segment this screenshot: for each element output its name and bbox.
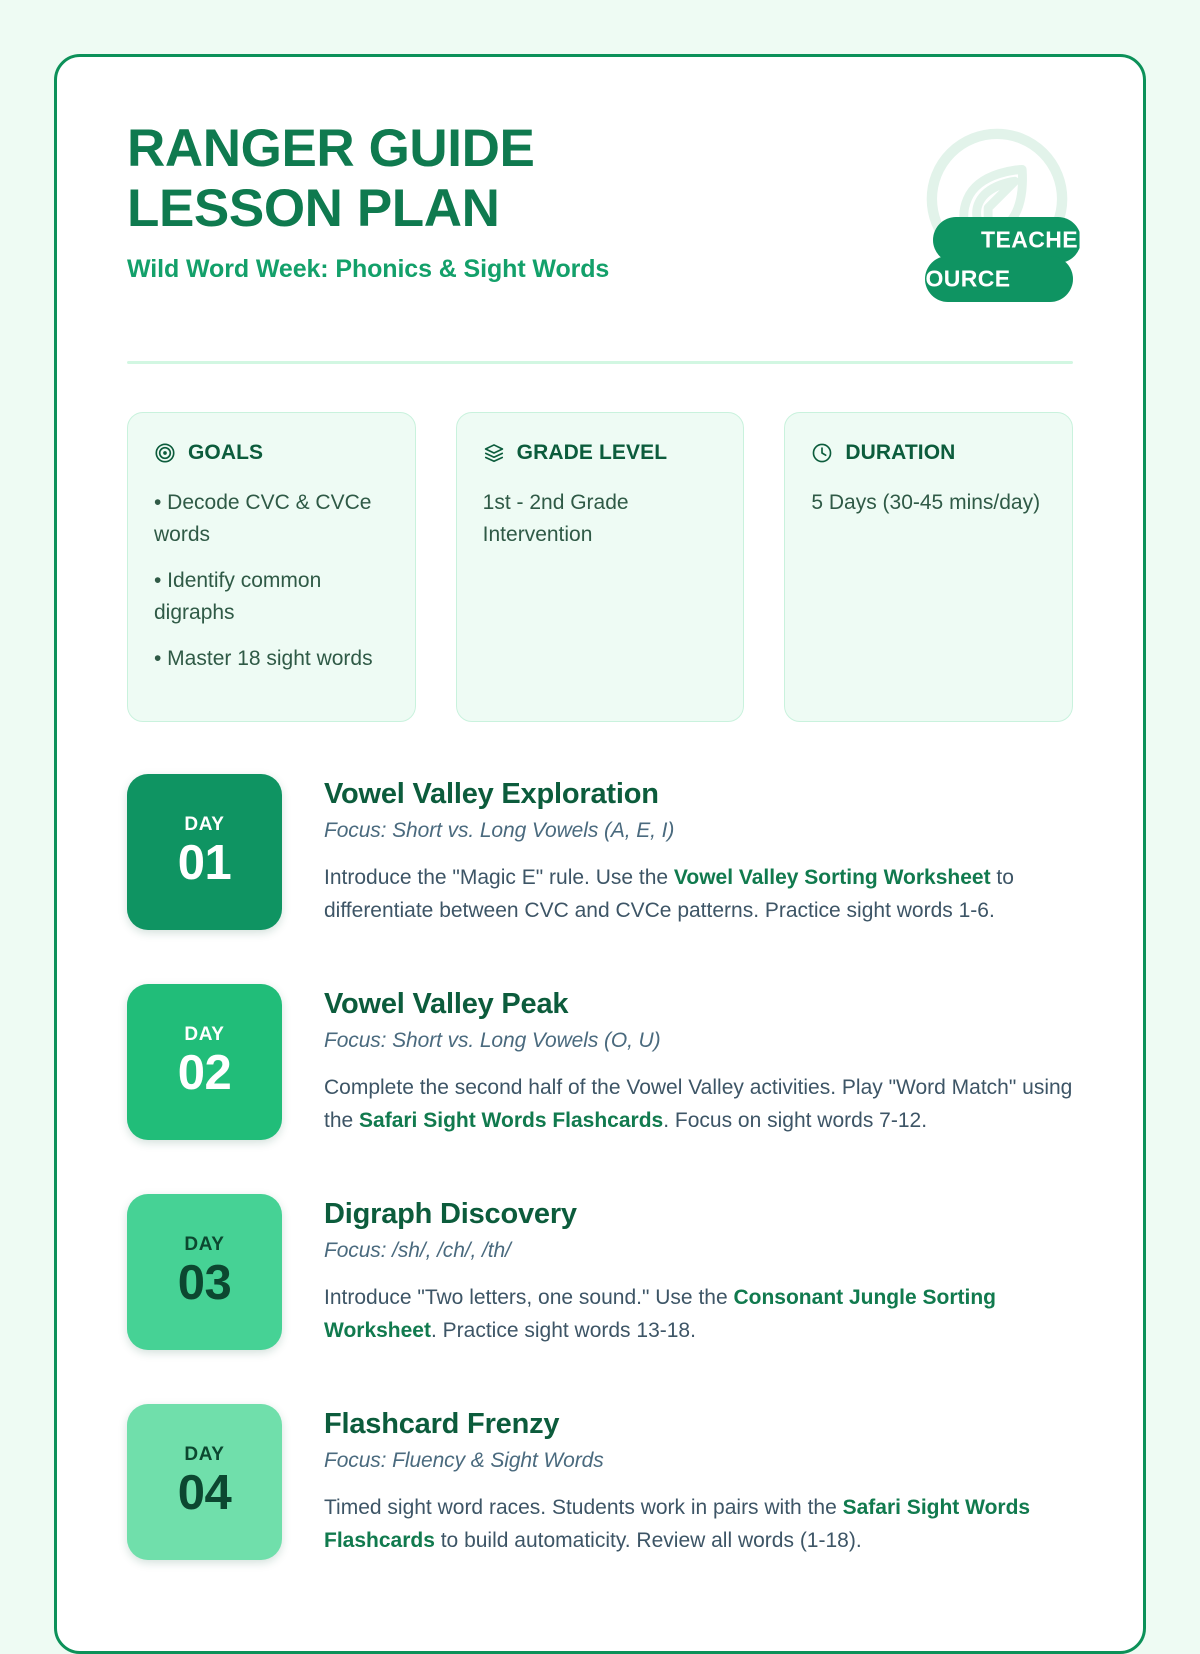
info-card-goals: GOALS • Decode CVC & CVCe words • Identi… [127,412,416,722]
day-badge-number: 04 [178,1468,232,1519]
day-row: DAY01Vowel Valley ExplorationFocus: Shor… [127,774,1073,930]
info-card-duration-header: DURATION [811,441,1046,465]
day-description: Complete the second half of the Vowel Va… [324,1071,1073,1137]
day-title: Vowel Valley Peak [324,988,1073,1021]
day-description-text: . Practice sight words 13-18. [431,1319,696,1342]
day-focus: Focus: Short vs. Long Vowels (O, U) [324,1029,1073,1053]
day-focus: Focus: /sh/, /ch/, /th/ [324,1239,1073,1263]
page-title: RANGER GUIDE LESSON PLAN [127,119,767,239]
clock-icon [811,442,833,464]
day-badge-label: DAY [184,1234,224,1256]
info-card-goals-title: GOALS [188,441,263,465]
info-card-goals-header: GOALS [154,441,389,465]
day-badge-02: DAY02 [127,984,282,1140]
info-card-goals-body: • Decode CVC & CVCe words • Identify com… [154,487,389,675]
badge-label-teacher: TEACHER [981,227,1095,254]
day-badge-number: 01 [178,838,232,889]
day-description-text: Timed sight word races. Students work in… [324,1496,843,1519]
day-badge-label: DAY [184,1444,224,1466]
info-card-duration-body: 5 Days (30-45 mins/day) [811,487,1046,519]
day-badge-label: DAY [184,814,224,836]
resource-link[interactable]: Safari Sight Words Flashcards [359,1109,663,1132]
day-content: Flashcard FrenzyFocus: Fluency & Sight W… [324,1404,1073,1557]
resource-link[interactable]: Vowel Valley Sorting Worksheet [674,866,991,889]
day-badge-01: DAY01 [127,774,282,930]
day-description-text: Introduce the "Magic E" rule. Use the [324,866,674,889]
day-description-text: Introduce "Two letters, one sound." Use … [324,1286,733,1309]
day-focus: Focus: Short vs. Long Vowels (A, E, I) [324,819,1073,843]
info-card-grade-level-body: 1st - 2nd Grade Intervention [483,487,718,551]
day-title: Vowel Valley Exploration [324,778,1073,811]
day-row: DAY02Vowel Valley PeakFocus: Short vs. L… [127,984,1073,1140]
teacher-resource-badge: TEACHER RESOURCE [879,125,1079,305]
info-card-duration-title: DURATION [845,441,955,465]
goal-bullet: • Master 18 sight words [154,643,389,675]
day-row: DAY04Flashcard FrenzyFocus: Fluency & Si… [127,1404,1073,1560]
goal-bullet: • Identify common digraphs [154,565,389,629]
info-cards: GOALS • Decode CVC & CVCe words • Identi… [127,412,1073,722]
day-focus: Focus: Fluency & Sight Words [324,1449,1073,1473]
day-badge-number: 03 [178,1258,232,1309]
day-description: Introduce the "Magic E" rule. Use the Vo… [324,861,1073,927]
day-badge-03: DAY03 [127,1194,282,1350]
lesson-plan-page: RANGER GUIDE LESSON PLAN Wild Word Week:… [54,54,1146,1654]
day-content: Vowel Valley PeakFocus: Short vs. Long V… [324,984,1073,1137]
day-description: Timed sight word races. Students work in… [324,1491,1073,1557]
info-card-grade-level: GRADE LEVEL 1st - 2nd Grade Intervention [456,412,745,722]
day-list: DAY01Vowel Valley ExplorationFocus: Shor… [127,774,1073,1560]
page-title-line-2: LESSON PLAN [127,179,767,239]
info-card-duration: DURATION 5 Days (30-45 mins/day) [784,412,1073,722]
day-description-text: to build automaticity. Review all words … [435,1529,862,1552]
page-title-line-1: RANGER GUIDE [127,119,767,179]
day-content: Digraph DiscoveryFocus: /sh/, /ch/, /th/… [324,1194,1073,1347]
layers-icon [483,442,505,464]
target-icon [154,442,176,464]
page-header: RANGER GUIDE LESSON PLAN Wild Word Week:… [127,119,1073,315]
badge-pill-resource: RESOURCE [925,256,1073,302]
day-badge-label: DAY [184,1024,224,1046]
day-content: Vowel Valley ExplorationFocus: Short vs.… [324,774,1073,927]
info-card-grade-level-header: GRADE LEVEL [483,441,718,465]
goal-bullet: • Decode CVC & CVCe words [154,487,389,551]
day-row: DAY03Digraph DiscoveryFocus: /sh/, /ch/,… [127,1194,1073,1350]
header-divider [127,361,1073,364]
day-description: Introduce "Two letters, one sound." Use … [324,1281,1073,1347]
day-badge-number: 02 [178,1048,232,1099]
day-title: Flashcard Frenzy [324,1408,1073,1441]
day-description-text: . Focus on sight words 7-12. [663,1109,927,1132]
day-badge-04: DAY04 [127,1404,282,1560]
badge-label-resource: RESOURCE [877,266,1011,293]
day-title: Digraph Discovery [324,1198,1073,1231]
info-card-grade-level-title: GRADE LEVEL [517,441,667,465]
